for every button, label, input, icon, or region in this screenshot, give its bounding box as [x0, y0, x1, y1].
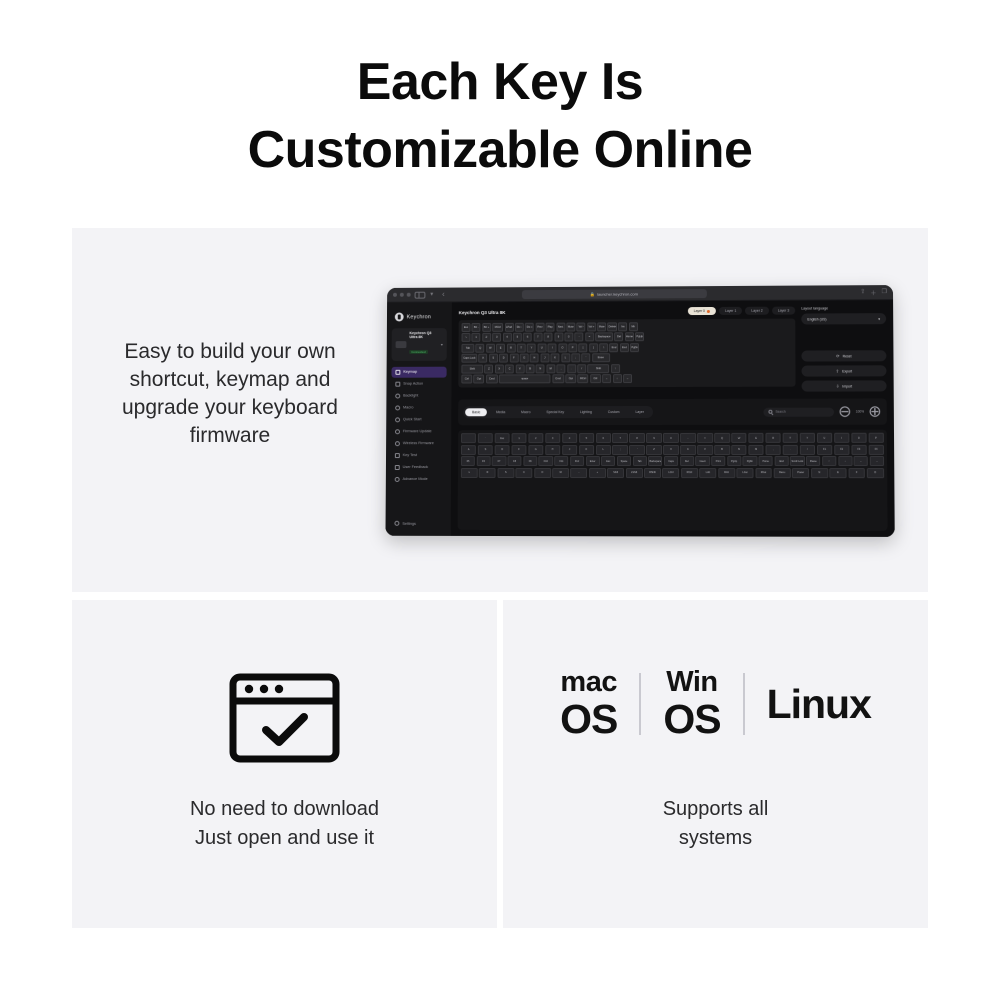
page-title: Each Key Is Customizable Online [0, 48, 1000, 184]
device-thumbnail-icon [396, 341, 407, 348]
plus-icon[interactable]: ＋ [870, 288, 876, 297]
snap-action-icon [395, 382, 400, 387]
sidebar-nav: Keymap Snap Action Backlight Macro [391, 367, 447, 485]
palette-key-pgup[interactable]: PgUp [727, 456, 741, 466]
tab-media[interactable]: Media [489, 408, 512, 416]
sidebar-item-label: Settings [402, 521, 416, 525]
palette-key-f4[interactable]: F4 [868, 444, 884, 454]
key--[interactable]: - [575, 333, 584, 342]
browser-chrome-actions: ⇪ ＋ ❐ [860, 288, 887, 297]
layer-tab-0[interactable]: Layer 0 [688, 307, 716, 315]
palette-key--[interactable]: ; [612, 445, 627, 455]
palette-key-pause[interactable]: Pause [806, 456, 820, 466]
palette-key-v[interactable]: V [697, 444, 713, 454]
palette-key-enter[interactable]: Enter [586, 456, 600, 466]
key-z[interactable]: Z [484, 364, 493, 373]
palette-key-o[interactable]: O [534, 468, 551, 478]
palette-key-f7[interactable]: F7 [492, 456, 506, 466]
key-1[interactable]: 1 [472, 333, 481, 342]
palette-key-f[interactable]: F [511, 445, 526, 455]
palette-key--[interactable]: ← [854, 456, 868, 466]
palette-key-3[interactable]: 3 [545, 433, 560, 443]
layout-language-label: Layout language [801, 306, 886, 310]
key-dic-[interactable]: Dic - [515, 323, 524, 332]
palette-key-lalt[interactable]: LAlt [699, 468, 716, 478]
key--[interactable]: ↓ [613, 374, 622, 383]
key-i[interactable]: I [548, 343, 557, 352]
palette-key-b[interactable]: B [714, 444, 730, 454]
keyboard-row: Caps LockASDFGHJKL;'Enter [461, 353, 792, 363]
zoom-level: 100% [856, 410, 864, 414]
app-main: Keychron Q3 Ultra 8K Layer 0 Layer 1 Lay… [451, 300, 895, 537]
os-logo-small: mac [560, 668, 617, 697]
chevron-left-icon[interactable]: ‹ [442, 291, 445, 299]
palette-key-n[interactable]: N [811, 468, 828, 478]
key-e[interactable]: E [496, 343, 505, 352]
palette-key-f2[interactable]: F2 [834, 444, 850, 454]
palette-key-q[interactable]: Q [714, 433, 730, 443]
palette-key-c[interactable]: C [516, 468, 533, 478]
sidebar-item-key-test[interactable]: Key Test [391, 450, 446, 461]
key--[interactable]: [ [579, 343, 588, 352]
key-3[interactable]: 3 [492, 333, 501, 342]
os-logo-large: OS [560, 699, 617, 740]
palette-key-l[interactable]: L [461, 468, 478, 478]
key-lpad[interactable]: LPad [505, 323, 514, 332]
key-caps-lock[interactable]: Caps Lock [461, 354, 477, 363]
promo-text: Easy to build your own shortcut, keymap … [90, 338, 370, 450]
sidebar-item-quick-start[interactable]: Quick Start [391, 414, 446, 425]
palette-key-end[interactable]: End [774, 456, 788, 466]
keyboard-row: EscBri -Bri +MCtrlLPadDic -Dic +PrevPlay… [462, 322, 793, 332]
sidebar-item-firmware-update[interactable]: Firmware Update [391, 426, 446, 437]
sidebar-item-advance-mode[interactable]: Advance Mode [391, 474, 446, 485]
layer-tab-1[interactable]: Layer 1 [719, 307, 742, 315]
palette-key-m[interactable]: M [552, 468, 569, 478]
right-panel-buttons: ⟳ Reset ⇧ Export ⇩ Import [801, 350, 886, 391]
palette-key--[interactable]: - [680, 433, 695, 443]
palette-key--[interactable]: - [571, 468, 588, 478]
tab-basic[interactable]: Basic [465, 408, 487, 416]
layer-tabs: Layer 0 Layer 1 Layer 2 Layer 3 [688, 307, 796, 316]
layout-language-select[interactable]: English (US) ▾ [801, 313, 886, 324]
sidebar-item-label: Key Test [403, 453, 417, 457]
layer-led-icon [707, 310, 710, 313]
sidebar-item-label: Firmware Update [403, 430, 432, 434]
key-end[interactable]: End [610, 343, 619, 352]
sidebar-item-user-feedback[interactable]: User Feedback [391, 462, 446, 473]
key-delete[interactable]: Delete [608, 322, 617, 331]
palette-key-del[interactable]: Del [680, 456, 694, 466]
key-space[interactable]: space [499, 374, 551, 383]
palette-key--[interactable]: ' [629, 445, 644, 455]
key-r[interactable]: R [506, 343, 515, 352]
key-9[interactable]: 9 [554, 333, 563, 342]
reset-icon: ⟳ [836, 353, 839, 358]
browser-check-icon [228, 672, 341, 769]
key--[interactable]: `~ [462, 333, 471, 342]
layer-tab-2[interactable]: Layer 2 [745, 307, 768, 315]
palette-key-u[interactable]: U [817, 433, 833, 443]
key-h[interactable]: H [530, 354, 539, 363]
palette-key-f6[interactable]: F6 [476, 456, 490, 466]
sidebar-item-label: User Feedback [403, 465, 428, 469]
brand: Keychron [392, 308, 447, 328]
minimize-icon[interactable] [400, 293, 404, 297]
key-pgdn[interactable]: PgDn [630, 343, 639, 352]
palette-key-e[interactable]: E [748, 433, 764, 443]
palette-key-h[interactable]: H [545, 445, 560, 455]
palette-key-e[interactable]: E [829, 468, 846, 478]
key-n[interactable]: N [536, 364, 545, 373]
key-6[interactable]: 6 [523, 333, 532, 342]
keycode-category-tabs: BasicMediaMacroSpecial KeyLightingCustom… [463, 406, 653, 418]
tab-layer[interactable]: Layer [628, 408, 650, 416]
palette-key-x[interactable]: X [663, 444, 678, 454]
sidebar-item-label: Advance Mode [403, 477, 428, 481]
key-tab[interactable]: Tab [461, 344, 474, 353]
key-p[interactable]: P [568, 343, 577, 352]
palette-key-4[interactable]: 4 [562, 433, 577, 443]
key-ins[interactable]: Ins [618, 322, 627, 331]
key-j[interactable]: J [540, 354, 549, 363]
palette-key-f10[interactable]: F10 [539, 456, 553, 466]
palette-row: LRSCOM-+ShiftLShiftRShiftLCtrlRCtrlLAltR… [461, 468, 884, 478]
device-selector[interactable]: Keychron Q3 Ultra 8K Connected ▾ [392, 328, 447, 361]
firmware-update-icon [395, 429, 400, 434]
key-8[interactable]: 8 [544, 333, 553, 342]
keychron-logo-icon [395, 313, 404, 322]
key--[interactable]: → [623, 374, 632, 383]
palette-key-f[interactable]: F [848, 468, 865, 478]
key-y[interactable]: Y [527, 343, 536, 352]
key-play[interactable]: Play [546, 323, 555, 332]
palette-key--[interactable]: ↑ [822, 456, 836, 466]
palette-key-pgdn[interactable]: PgDn [743, 456, 757, 466]
key-cmd[interactable]: Cmd [486, 374, 498, 383]
key-q[interactable]: Q [476, 344, 485, 353]
key--[interactable]: = [585, 333, 594, 342]
palette-key-f1[interactable]: F1 [817, 444, 833, 454]
palette-key-rctrl[interactable]: RCtrl [681, 468, 698, 478]
key-bri-[interactable]: Bri + [482, 323, 491, 332]
key-2[interactable]: 2 [482, 333, 491, 342]
sidebar-item-label: Keymap [403, 370, 417, 374]
palette-key-backspace[interactable]: Backspace [648, 456, 662, 466]
palette-key-s[interactable]: S [497, 468, 514, 478]
palette-row: `Esc1234567890-=QWERTYUIOP [461, 433, 884, 443]
key-4[interactable]: 4 [503, 333, 512, 342]
palette-key--[interactable]: / [800, 444, 816, 454]
import-icon: ⇩ [836, 384, 839, 389]
import-button[interactable]: ⇩ Import [802, 380, 887, 391]
chevron-down-icon[interactable]: ▾ [441, 342, 443, 347]
key-f[interactable]: F [509, 354, 518, 363]
address-bar[interactable]: 🔒 launcher.keychron.com [522, 289, 707, 299]
key-prev[interactable]: Prev [535, 323, 544, 332]
tabs-icon[interactable]: ❐ [881, 288, 887, 297]
wireless-firmware-icon [395, 441, 400, 446]
sidebar-item-settings[interactable]: Settings [390, 518, 445, 529]
palette-key-k[interactable]: K [579, 445, 594, 455]
palette-key-esc[interactable]: Esc [601, 456, 615, 466]
key-ctrl[interactable]: Ctrl [461, 375, 472, 384]
key-c[interactable]: C [505, 364, 514, 373]
key-o[interactable]: O [558, 343, 567, 352]
palette-key-tab[interactable]: Tab [633, 456, 647, 466]
key--[interactable]: ] [589, 343, 598, 352]
palette-key-p[interactable]: P [868, 433, 884, 443]
palette-key-6[interactable]: 6 [596, 433, 611, 443]
palette-row: ASDFGHJKL;'ZXCVBNM,./F1F2F3F4 [461, 444, 884, 454]
key-s[interactable]: S [489, 354, 498, 363]
key-dic-[interactable]: Dic + [525, 323, 534, 332]
palette-key-0[interactable]: 0 [663, 433, 678, 443]
main-top: Keychron Q3 Ultra 8K Layer 0 Layer 1 Lay… [458, 306, 886, 392]
sidebar-item-wireless-firmware[interactable]: Wireless Firmware [391, 438, 446, 449]
palette-key-s[interactable]: S [478, 445, 493, 455]
chevron-down-icon: ▾ [878, 317, 880, 321]
key-m[interactable]: M [546, 364, 555, 373]
key-g[interactable]: G [520, 354, 529, 363]
key-pgup[interactable]: PgUp [635, 333, 644, 342]
sidebar-item-keymap[interactable]: Keymap [391, 367, 446, 378]
keyboard-row: ShiftZXCVBNM,./Shift↑ [461, 363, 792, 373]
palette-key-menu[interactable]: Menu [774, 468, 791, 478]
key-l[interactable]: L [561, 354, 570, 363]
search-box[interactable]: Search [763, 407, 834, 416]
key--[interactable]: ' [582, 353, 591, 362]
key-cmd[interactable]: Cmd [552, 374, 564, 383]
os-logo-winos: Win OS [663, 668, 720, 740]
palette-key-ralt[interactable]: RAlt [718, 468, 735, 478]
maximize-icon[interactable] [407, 293, 411, 297]
lock-icon: 🔒 [590, 291, 595, 296]
palette-key-1[interactable]: 1 [511, 433, 526, 443]
key--[interactable]: . [567, 364, 576, 373]
palette-key-rgui[interactable]: RGui [755, 468, 772, 478]
key-mn[interactable]: Mn [629, 322, 638, 331]
key-next[interactable]: Next [556, 323, 565, 332]
palette-key--[interactable]: ` [478, 433, 493, 443]
key-u[interactable]: U [537, 343, 546, 352]
zoom-out-icon[interactable]: ⊖ [838, 402, 852, 422]
keyboard-row: TabQWERTYUIOP[]\EndEndPgDn [461, 342, 792, 352]
key-a[interactable]: A [479, 354, 488, 363]
key-ctrl[interactable]: Ctrl [590, 374, 601, 383]
key-esc[interactable]: Esc [462, 323, 471, 332]
key-mctrl[interactable]: MCtrl [578, 374, 589, 383]
key-w[interactable]: W [486, 344, 495, 353]
palette-key--[interactable]: + [589, 468, 606, 478]
key-vol-[interactable]: Vol + [587, 322, 596, 331]
palette-key-o[interactable]: O [851, 433, 867, 443]
keycode-toolbar: BasicMediaMacroSpecial KeyLightingCustom… [458, 398, 887, 425]
page-root: Each Key Is Customizable Online Easy to … [0, 0, 1000, 1000]
key-test-icon [395, 453, 400, 458]
key-shift[interactable]: Shift [587, 364, 609, 373]
palette-key-7[interactable]: 7 [612, 433, 627, 443]
reset-button[interactable]: ⟳ Reset [801, 350, 886, 361]
palette-key-insert[interactable]: Insert [695, 456, 709, 466]
page-title-line1: Each Key Is [0, 48, 1000, 116]
palette-key-5[interactable]: 5 [579, 433, 594, 443]
app-screenshot-mock: ▼ ‹ 🔒 launcher.keychron.com ⇪ ＋ ❐ Keychr… [385, 285, 894, 537]
palette-key-8[interactable]: 8 [629, 433, 644, 443]
os-logo-macos: mac OS [560, 668, 617, 740]
key-end[interactable]: End [620, 343, 629, 352]
export-button[interactable]: ⇧ Export [801, 365, 886, 376]
key-0[interactable]: 0 [564, 333, 573, 342]
layer-tab-3[interactable]: Layer 3 [772, 307, 795, 315]
palette-key-f11[interactable]: F11 [554, 456, 568, 466]
key-enter[interactable]: Enter [592, 353, 610, 362]
palette-key-rshift[interactable]: RShift [644, 468, 661, 478]
keyboard-panel: Keychron Q3 Ultra 8K Layer 0 Layer 1 Lay… [458, 307, 795, 393]
palette-key-2[interactable]: 2 [528, 433, 543, 443]
palette-key-a[interactable]: A [461, 445, 476, 455]
palette-key-caps[interactable]: Caps [664, 456, 678, 466]
palette-key-lshift[interactable]: LShift [626, 468, 643, 478]
caption-bottom-left: No need to download Just open and use it [72, 795, 497, 853]
keycode-palette[interactable]: `Esc1234567890-=QWERTYUIOPASDFGHJKL;'ZXC… [458, 430, 888, 531]
key-home[interactable]: Home [625, 333, 634, 342]
key-opt[interactable]: Opt [565, 374, 576, 383]
palette-key-f9[interactable]: F9 [523, 456, 537, 466]
export-button-label: Export [842, 369, 852, 373]
key-k[interactable]: K [551, 354, 560, 363]
share-icon[interactable]: ⇪ [860, 288, 865, 297]
palette-key-t[interactable]: T [782, 433, 798, 443]
tab-lighting[interactable]: Lighting [573, 408, 599, 416]
palette-key-esc[interactable]: Esc [495, 433, 510, 443]
palette-key-l[interactable]: L [596, 445, 611, 455]
address-bar-url: launcher.keychron.com [597, 291, 638, 296]
sidebar-item-label: Macro [403, 406, 413, 410]
palette-key-scroll-lock[interactable]: Scroll Lock [790, 456, 804, 466]
key-shift[interactable]: Shift [461, 364, 483, 373]
palette-key-m[interactable]: M [748, 444, 764, 454]
divider [639, 673, 641, 735]
palette-key-d[interactable]: D [495, 445, 510, 455]
palette-key-r[interactable]: R [479, 468, 496, 478]
key-mute[interactable]: Mute [566, 323, 575, 332]
sidebar-item-label: Quick Start [403, 418, 422, 422]
sidebar-item-snap-action[interactable]: Snap Action [391, 378, 446, 389]
key--[interactable]: ← [602, 374, 611, 383]
key-5[interactable]: 5 [513, 333, 522, 342]
key-t[interactable]: T [517, 343, 526, 352]
search-icon [768, 410, 772, 414]
key--[interactable]: \ [599, 343, 608, 352]
key-backspace[interactable]: Backspace [595, 333, 613, 342]
key-opt[interactable]: Opt [474, 374, 485, 383]
sidebar-item-macro[interactable]: Macro [391, 402, 446, 413]
tab-custom[interactable]: Custom [601, 408, 627, 416]
key-mctrl[interactable]: MCtrl [492, 323, 503, 332]
key-b[interactable]: B [526, 364, 535, 373]
key-v[interactable]: V [515, 364, 524, 373]
palette-key-d[interactable]: D [867, 468, 884, 478]
caption-line1: No need to download [72, 795, 497, 824]
palette-key-i[interactable]: I [834, 433, 850, 443]
keyboard-title: Keychron Q3 Ultra 8K [459, 310, 506, 315]
palette-key-power[interactable]: Power [792, 468, 809, 478]
key-x[interactable]: X [495, 364, 504, 373]
palette-key-j[interactable]: J [562, 445, 577, 455]
key-bri-[interactable]: Bri - [472, 323, 481, 332]
app-body: Keychron Keychron Q3 Ultra 8K Connected … [385, 300, 894, 537]
export-icon: ⇧ [836, 368, 839, 373]
palette-key-g[interactable]: G [528, 445, 543, 455]
key--[interactable]: , [557, 364, 566, 373]
palette-key-n[interactable]: N [731, 444, 747, 454]
palette-key-home[interactable]: Home [759, 456, 773, 466]
zoom-in-icon[interactable]: ⊕ [868, 402, 882, 422]
palette-key--[interactable]: = [697, 433, 713, 443]
feature-card-bottom-right [503, 600, 928, 928]
backlight-icon [395, 393, 400, 398]
palette-key--[interactable]: . [782, 444, 798, 454]
key--[interactable]: / [577, 364, 586, 373]
key-mute[interactable]: Mute [597, 322, 606, 331]
palette-key-f8[interactable]: F8 [508, 456, 522, 466]
palette-key-shift[interactable]: Shift [607, 468, 624, 478]
palette-key-f12[interactable]: F12 [570, 456, 584, 466]
palette-key-lgui[interactable]: LGui [736, 468, 753, 478]
palette-key-space[interactable]: Space [617, 456, 631, 466]
key-vol-[interactable]: Vol - [577, 323, 586, 332]
palette-key-y[interactable]: Y [800, 433, 816, 443]
key-d[interactable]: D [499, 354, 508, 363]
key-del[interactable]: Del [615, 333, 624, 342]
tab-special-key[interactable]: Special Key [539, 408, 571, 416]
palette-key-blank[interactable] [461, 433, 476, 443]
palette-key-f5[interactable]: F5 [461, 456, 475, 466]
toolbar-right: Search ⊖ 100% ⊕ [763, 402, 881, 422]
keyboard-layout[interactable]: EscBri -Bri +MCtrlLPadDic -Dic +PrevPlay… [458, 319, 795, 388]
sidebar-item-backlight[interactable]: Backlight [391, 390, 446, 401]
search-input[interactable]: Search [775, 410, 785, 414]
key--[interactable]: ↑ [611, 364, 620, 373]
device-name: Keychron Q3 Ultra 8K [409, 331, 438, 340]
palette-key--[interactable]: ↓ [838, 456, 852, 466]
key-7[interactable]: 7 [533, 333, 542, 342]
caption-bottom-right: Supports all systems [503, 795, 928, 853]
palette-key-f3[interactable]: F3 [851, 444, 867, 454]
palette-key--[interactable]: → [870, 456, 884, 466]
keyboard-row: CtrlOptCmdspaceCmdOptMCtrlCtrl←↓→ [461, 374, 792, 384]
palette-key-lctrl[interactable]: LCtrl [663, 468, 680, 478]
divider [743, 673, 745, 735]
palette-key--[interactable]: , [765, 444, 781, 454]
tab-macro[interactable]: Macro [514, 408, 537, 416]
os-logo-large: OS [663, 699, 720, 740]
palette-key-w[interactable]: W [731, 433, 747, 443]
palette-key-9[interactable]: 9 [646, 433, 661, 443]
palette-key-r[interactable]: R [765, 433, 781, 443]
palette-key-z[interactable]: Z [646, 444, 661, 454]
palette-key-print[interactable]: Print [711, 456, 725, 466]
device-status-badge: Connected [409, 350, 427, 354]
close-icon[interactable] [393, 293, 397, 297]
palette-key-c[interactable]: C [680, 444, 696, 454]
chevron-down-icon[interactable]: ▼ [429, 292, 434, 297]
sidebar-icon[interactable] [415, 291, 426, 298]
window-controls[interactable] [393, 293, 411, 297]
key--[interactable]: ; [571, 354, 580, 363]
os-logo-linux: Linux [767, 684, 871, 725]
